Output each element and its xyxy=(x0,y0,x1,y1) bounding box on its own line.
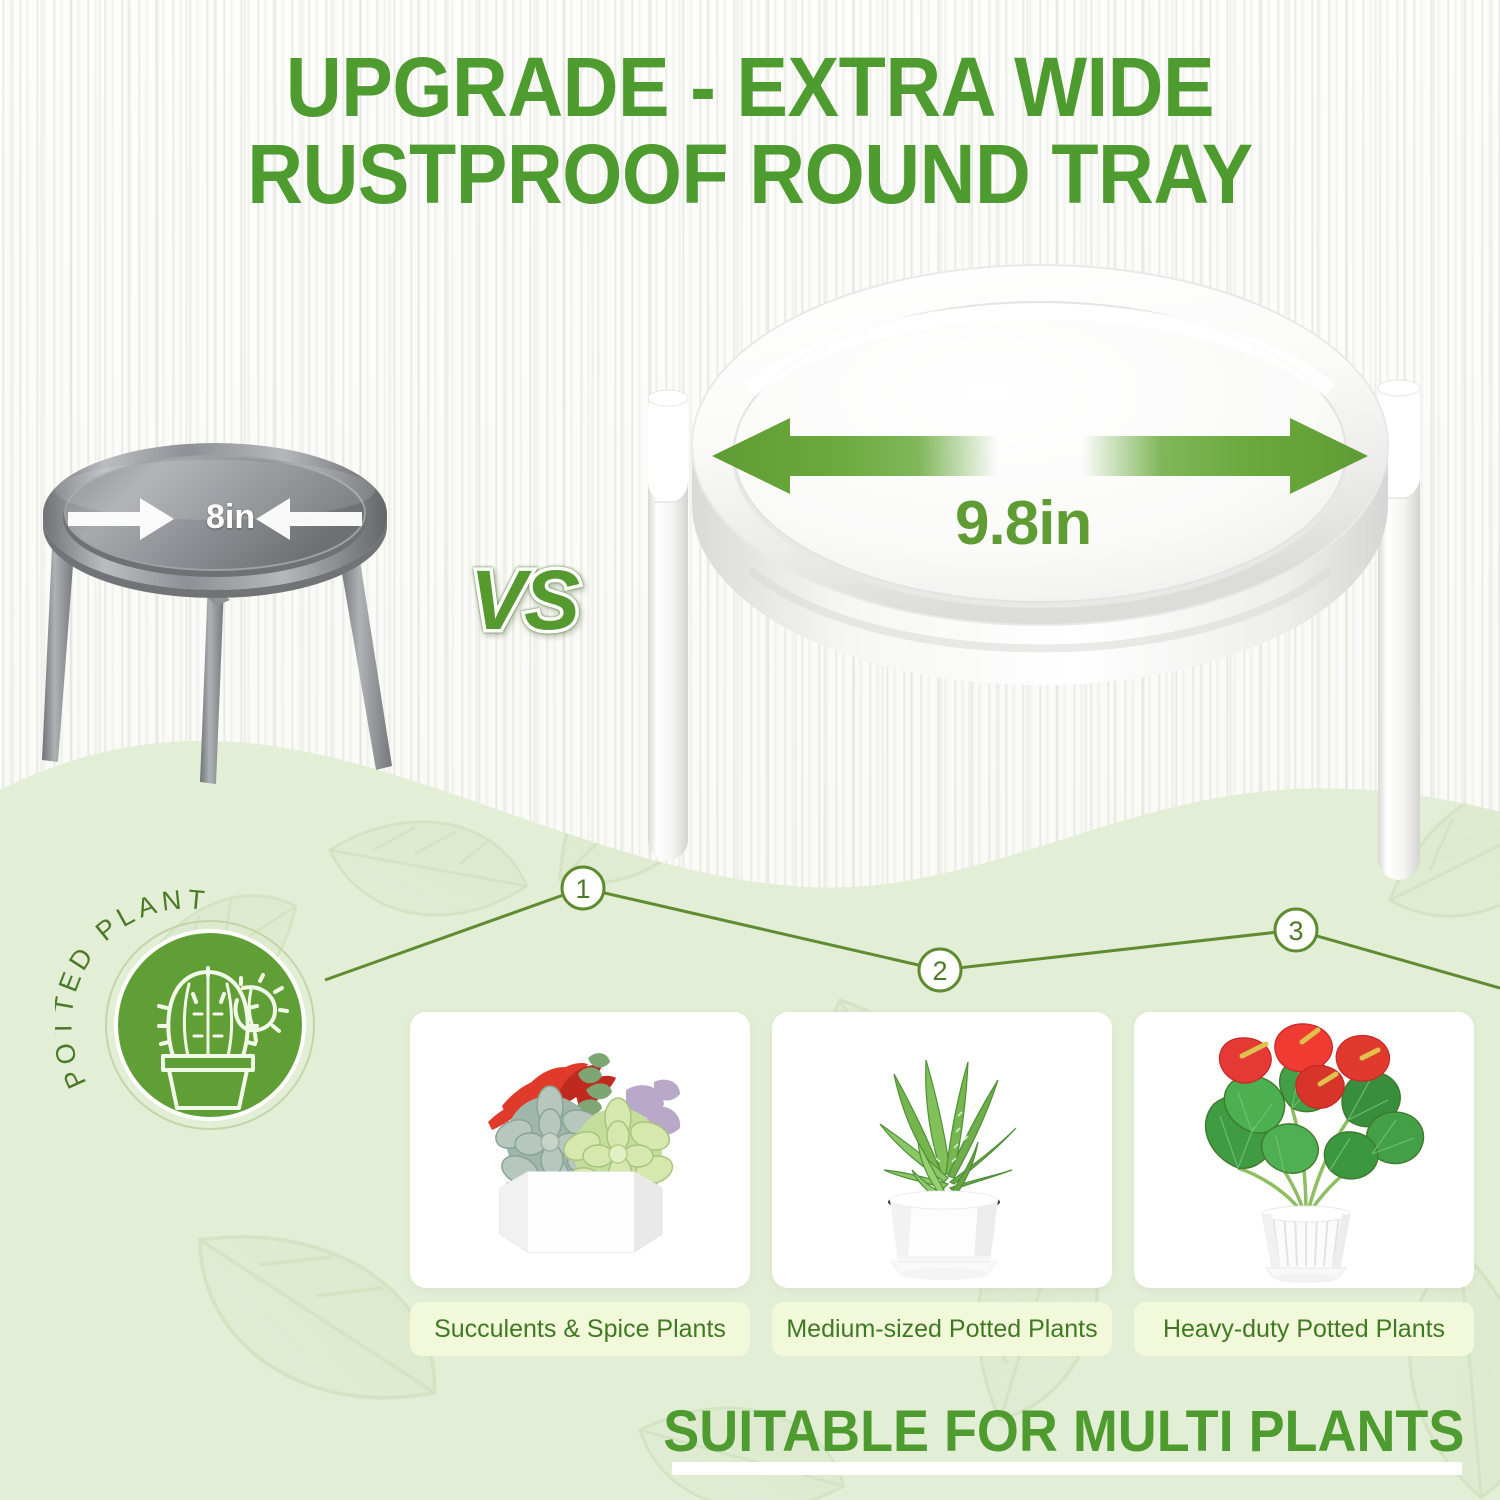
new-white-plant-stand xyxy=(630,240,1460,890)
step-marker-3-label: 3 xyxy=(1288,916,1303,946)
anthurium-plant-image xyxy=(1134,1012,1474,1288)
old-dimension-label: 8in xyxy=(206,498,255,537)
plant-card-1[interactable] xyxy=(410,1012,750,1288)
plant-cards-row xyxy=(410,1012,1475,1288)
caption-pill-1: Succulents & Spice Plants xyxy=(410,1302,750,1356)
page-title: UPGRADE - EXTRA WIDE RUSTPROOF ROUND TRA… xyxy=(60,44,1440,217)
step-marker-1: 1 xyxy=(562,867,604,909)
vs-label: VS xyxy=(470,552,578,649)
step-marker-1-label: 1 xyxy=(575,874,590,904)
caption-pill-3: Heavy-duty Potted Plants xyxy=(1134,1302,1474,1356)
infographic-root: UPGRADE - EXTRA WIDE RUSTPROOF ROUND TRA… xyxy=(0,0,1500,1500)
caption-pills-row: Succulents & Spice Plants Medium-sized P… xyxy=(410,1302,1475,1356)
caption-pill-2-label: Medium-sized Potted Plants xyxy=(786,1315,1097,1344)
caption-pill-3-label: Heavy-duty Potted Plants xyxy=(1163,1315,1445,1344)
connector-polyline xyxy=(325,888,1500,988)
caption-pill-1-label: Succulents & Spice Plants xyxy=(434,1315,726,1344)
step-marker-2-label: 2 xyxy=(932,956,947,986)
plant-card-2[interactable] xyxy=(772,1012,1112,1288)
stand-leg-left xyxy=(648,390,688,860)
footer-title: SUITABLE FOR MULTI PLANTS xyxy=(663,1398,1464,1465)
footer-banner: SUITABLE FOR MULTI PLANTS xyxy=(0,1398,1500,1465)
succulent-arrangement-image xyxy=(410,1012,750,1288)
step-marker-2: 2 xyxy=(919,949,961,991)
potted-plant-badge: POTTED PLANT xyxy=(55,880,355,1180)
plant-card-3[interactable] xyxy=(1134,1012,1474,1288)
old-gray-plant-stand xyxy=(40,430,460,860)
aloe-plant-image xyxy=(772,1012,1112,1288)
caption-pill-2: Medium-sized Potted Plants xyxy=(772,1302,1112,1356)
step-marker-3: 3 xyxy=(1275,909,1317,951)
new-dimension-label: 9.8in xyxy=(955,488,1091,559)
